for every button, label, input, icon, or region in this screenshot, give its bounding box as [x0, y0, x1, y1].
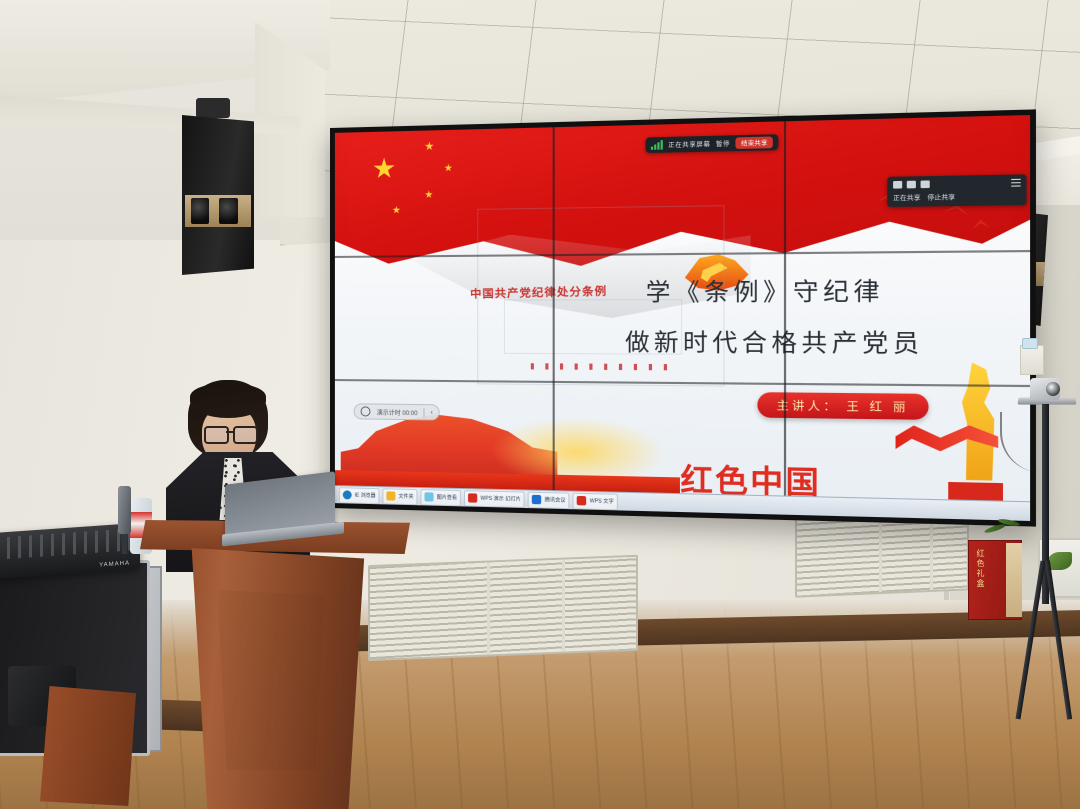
speaker-name: 王 红 丽 — [846, 400, 909, 415]
sharing-button[interactable]: 正在共享 — [893, 192, 921, 202]
photo-scene: 中国共产党纪律处分条例 学《条例》守纪律 做新时代合格共产党员 主讲人： 王 红… — [0, 0, 1080, 809]
picture-leaf-motif — [1048, 552, 1072, 570]
screen-icon[interactable] — [907, 181, 916, 189]
presentation-timer-pill[interactable]: 演示计时 00:00 ‹ — [354, 403, 440, 420]
screen-share-toolbar[interactable]: 正在共享屏幕 暂停 结束共享 — [646, 134, 779, 153]
browser-icon — [343, 490, 352, 499]
video-wall-bezel — [783, 121, 785, 514]
gift-box: 红色礼盒 — [968, 540, 1022, 620]
microphone — [118, 486, 131, 534]
speaker-label: 主讲人： — [777, 399, 840, 414]
taskbar-item[interactable]: IE 浏览器 — [339, 487, 380, 504]
meeting-panel-icon-row — [893, 179, 1021, 189]
slide-dot-separator — [530, 364, 666, 371]
taskbar-label: WPS 演示 幻灯片 — [480, 495, 520, 503]
taskbar-label: 图片查看 — [437, 494, 457, 502]
glasses-left-lens — [204, 426, 229, 444]
speaker-left — [182, 115, 254, 275]
glasses-right-lens — [233, 426, 258, 444]
grille-divider — [562, 560, 565, 652]
regulation-caption: 中国共产党纪律处分条例 — [470, 282, 607, 301]
taskbar-item[interactable]: 图片查看 — [421, 489, 461, 506]
taskbar-label: 文件夹 — [399, 493, 414, 500]
mixer-brand-label: YAMAHA — [99, 560, 130, 568]
monument-base — [948, 482, 1003, 500]
taskbar-label: WPS 文字 — [590, 497, 614, 505]
video-wall-screen[interactable]: 中国共产党纪律处分条例 学《条例》守纪律 做新时代合格共产党员 主讲人： 王 红… — [335, 115, 1030, 521]
taskbar-label: 腾讯会议 — [545, 496, 566, 504]
bird-icon — [971, 219, 991, 230]
share-pause-button[interactable]: 暂停 — [716, 139, 730, 149]
stop-sharing-button[interactable]: 停止共享 — [927, 192, 955, 202]
podium-front-panel — [210, 590, 330, 770]
monument-figure — [955, 362, 1006, 481]
grille-divider — [487, 562, 490, 654]
leaf-shape — [984, 523, 1006, 535]
presenter-fringe — [190, 384, 266, 418]
taskbar-item[interactable]: WPS 文字 — [573, 492, 618, 510]
slide-title-line-1: 学《条例》守纪律 — [646, 270, 884, 307]
wooden-chair — [40, 686, 136, 806]
speaker-driver — [219, 198, 238, 224]
glasses-bridge — [226, 431, 234, 433]
picture-icon — [425, 492, 434, 501]
mixer-faders[interactable] — [0, 528, 134, 560]
meeting-icon — [532, 495, 541, 504]
clock-icon — [361, 406, 371, 416]
share-status-text: 正在共享屏幕 — [668, 139, 710, 149]
wall-sensor — [1022, 338, 1038, 349]
slide-title-line-2: 做新时代合格共产党员 — [625, 322, 924, 359]
pill-divider — [424, 408, 425, 417]
wps-writer-icon — [577, 496, 586, 506]
plant-leaves — [984, 520, 1024, 550]
signal-bars-icon — [651, 140, 663, 150]
video-wall-bezel — [552, 127, 554, 509]
camera-icon[interactable] — [893, 181, 902, 189]
video-wall[interactable]: 中国共产党纪律处分条例 学《条例》守纪律 做新时代合格共产党员 主讲人： 王 红… — [330, 109, 1036, 526]
camera-lens — [1046, 382, 1060, 396]
taskbar-item[interactable]: 文件夹 — [383, 488, 418, 505]
gift-box-inner — [1006, 543, 1022, 617]
taskbar-item[interactable]: WPS 演示 幻灯片 — [464, 490, 525, 508]
speaker-driver — [191, 198, 210, 224]
timer-text: 演示计时 00:00 — [377, 407, 418, 417]
meeting-panel-button-row: 正在共享 停止共享 — [893, 191, 1021, 203]
taskbar-label: IE 浏览器 — [355, 492, 376, 500]
wps-presentation-icon — [468, 493, 477, 502]
meeting-control-panel[interactable]: 正在共享 停止共享 — [887, 174, 1026, 207]
stop-share-button[interactable]: 结束共享 — [736, 136, 773, 149]
speaker-bracket-left — [196, 98, 230, 118]
menu-icon[interactable] — [1011, 179, 1020, 187]
podium — [140, 520, 410, 809]
chevron-left-icon[interactable]: ‹ — [431, 409, 433, 416]
taskbar-item[interactable]: 腾讯会议 — [528, 491, 570, 509]
window-icon[interactable] — [921, 180, 930, 188]
wall-plate — [1020, 345, 1044, 375]
folder-icon — [387, 491, 396, 500]
gift-box-text: 红色礼盒 — [975, 549, 986, 589]
